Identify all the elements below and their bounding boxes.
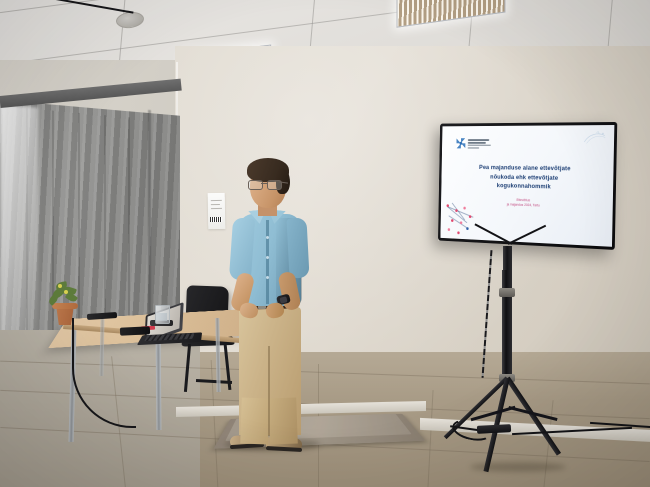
plant-flower: [64, 290, 68, 294]
logo-wordmark: [468, 139, 491, 149]
corner-swoosh-graphic: [582, 131, 606, 145]
desk-leg: [156, 330, 162, 430]
shirt-button: [266, 256, 269, 259]
shirt-sleeve-left: [229, 217, 255, 280]
photo-scene: Pea majanduse alane ettevõtjate nõukoda …: [0, 0, 650, 487]
trouser-leg-right: [268, 398, 298, 445]
eyeglasses: [248, 180, 284, 189]
trouser-leg-left: [240, 398, 270, 445]
organisation-logo: [456, 139, 491, 149]
tv-screen: Pea majanduse alane ettevõtjate nõukoda …: [440, 125, 614, 247]
shirt-button: [266, 276, 269, 279]
shirt-button: [266, 236, 269, 239]
slide-title-line-3: kogukonnahommik: [454, 181, 598, 194]
window-daylight-glow: [0, 104, 38, 347]
tripod-tv-stand: [502, 270, 512, 380]
glass-water: [156, 313, 167, 321]
presentation-television[interactable]: Pea majanduse alane ettevõtjate nõukoda …: [438, 122, 617, 250]
slide-title: Pea majanduse alane ettevõtjate nõukoda …: [454, 163, 599, 193]
potted-plant-rim: [52, 303, 78, 309]
dot-network-graphic: [444, 200, 493, 240]
presenter: [214, 158, 326, 448]
shirt-sleeve-right: [286, 218, 309, 279]
trouser-crease: [268, 346, 270, 436]
shirt-placket: [266, 220, 269, 304]
plant-flower: [58, 284, 62, 288]
logo-mark-icon: [456, 139, 465, 149]
tripod-collar[interactable]: [499, 288, 515, 297]
tripod-shadow: [470, 462, 566, 472]
